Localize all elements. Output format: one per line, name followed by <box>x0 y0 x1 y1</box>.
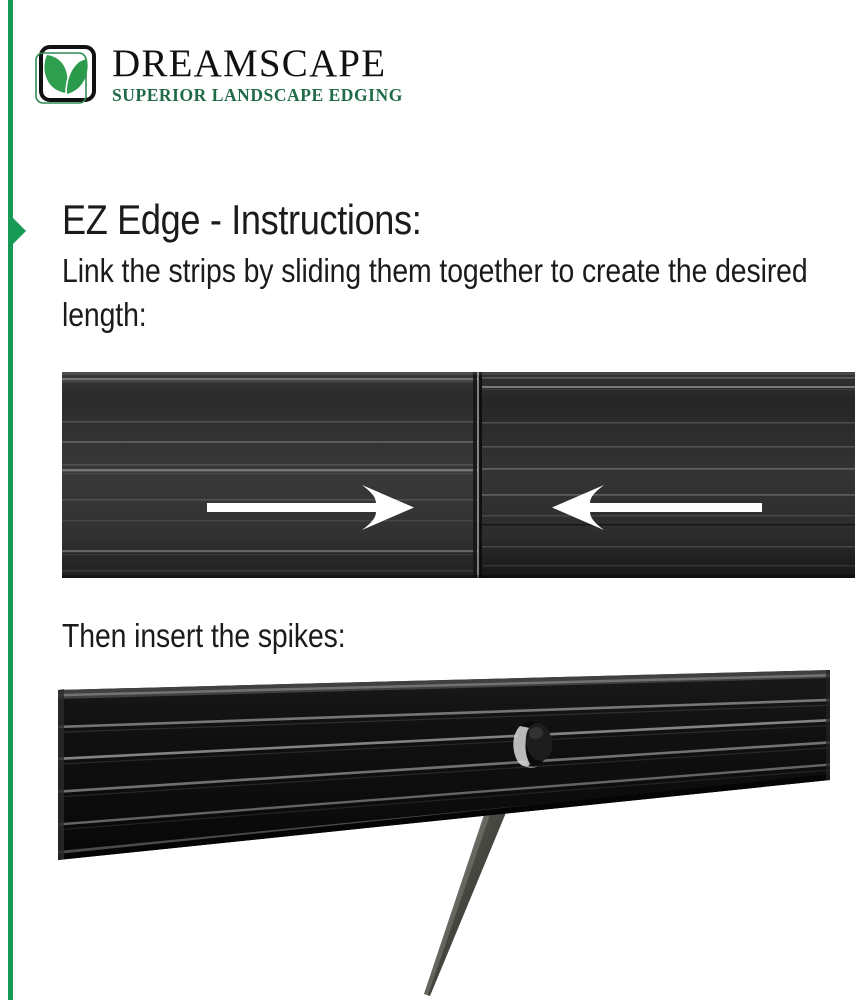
green-triangle-marker-icon <box>12 217 26 245</box>
left-green-rule <box>8 0 13 1000</box>
brand-tagline: SUPERIOR LANDSCAPE EDGING <box>112 87 403 105</box>
leaf-logo-icon <box>33 42 99 108</box>
spike-icon <box>424 803 510 996</box>
instruction-sheet-page: DREAMSCAPE SUPERIOR LANDSCAPE EDGING EZ … <box>0 0 865 1000</box>
brand-logo: DREAMSCAPE SUPERIOR LANDSCAPE EDGING <box>33 42 403 108</box>
spike-insertion-photo <box>58 658 858 1000</box>
instructions-text-block: EZ Edge - Instructions: Link the strips … <box>62 196 852 337</box>
page-title: EZ Edge - Instructions: <box>62 196 741 243</box>
step-1-instruction: Link the strips by sliding them together… <box>62 249 850 337</box>
linking-strips-photo <box>62 372 855 578</box>
brand-name: DREAMSCAPE <box>112 45 403 83</box>
step-2-instruction: Then insert the spikes: <box>62 617 346 655</box>
